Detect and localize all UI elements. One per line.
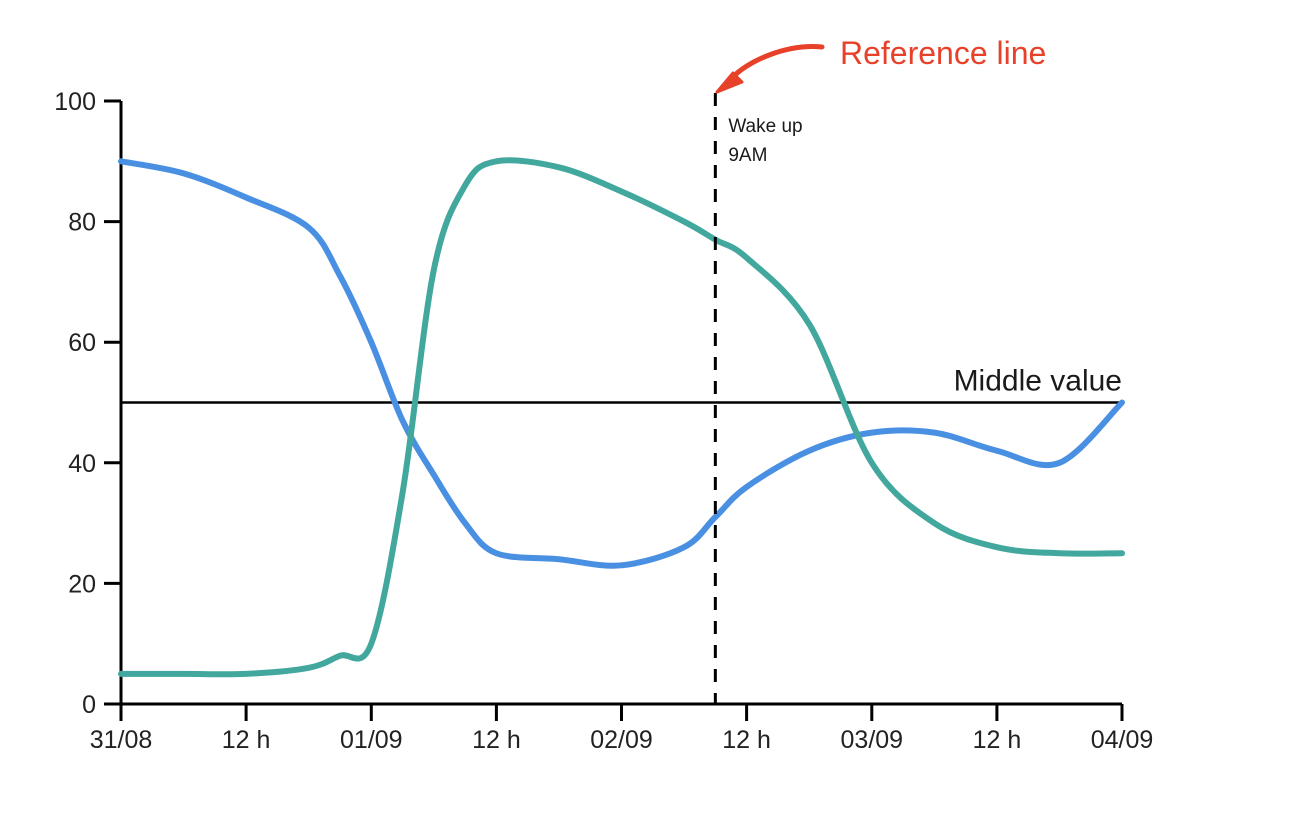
y-tick-label-40: 40 [68, 450, 96, 478]
chart-container: 100 80 60 40 20 0 31/08 12 h 01/09 12 h … [0, 0, 1290, 822]
line-series-blue [121, 161, 1122, 565]
y-tick-label-80: 80 [68, 209, 96, 237]
chart-svg: 100 80 60 40 20 0 31/08 12 h 01/09 12 h … [0, 0, 1290, 822]
y-tick-label-0: 0 [82, 691, 96, 719]
x-tick-label-7: 12 h [973, 726, 1022, 754]
x-tick-label-4: 02/09 [590, 726, 653, 754]
x-tick-label-2: 01/09 [340, 726, 403, 754]
y-tick-label-100: 100 [54, 88, 96, 116]
wake-up-label-line2: 9AM [728, 145, 767, 166]
wake-up-label-line1: Wake up [728, 116, 802, 137]
y-tick-label-20: 20 [68, 570, 96, 598]
x-tick-label-3: 12 h [472, 726, 521, 754]
x-tick-label-1: 12 h [222, 726, 271, 754]
x-tick-label-0: 31/08 [90, 726, 153, 754]
middle-value-label: Middle value [954, 365, 1122, 398]
x-tick-label-8: 04/09 [1091, 726, 1154, 754]
x-tick-label-6: 03/09 [841, 726, 904, 754]
callout-text: Reference line [840, 35, 1046, 71]
reference-line-annotation: Reference line [717, 35, 1046, 92]
x-tick-label-5: 12 h [722, 726, 771, 754]
y-tick-label-60: 60 [68, 329, 96, 357]
callout-arrowhead-icon [717, 73, 742, 92]
line-series-teal [121, 160, 1122, 674]
